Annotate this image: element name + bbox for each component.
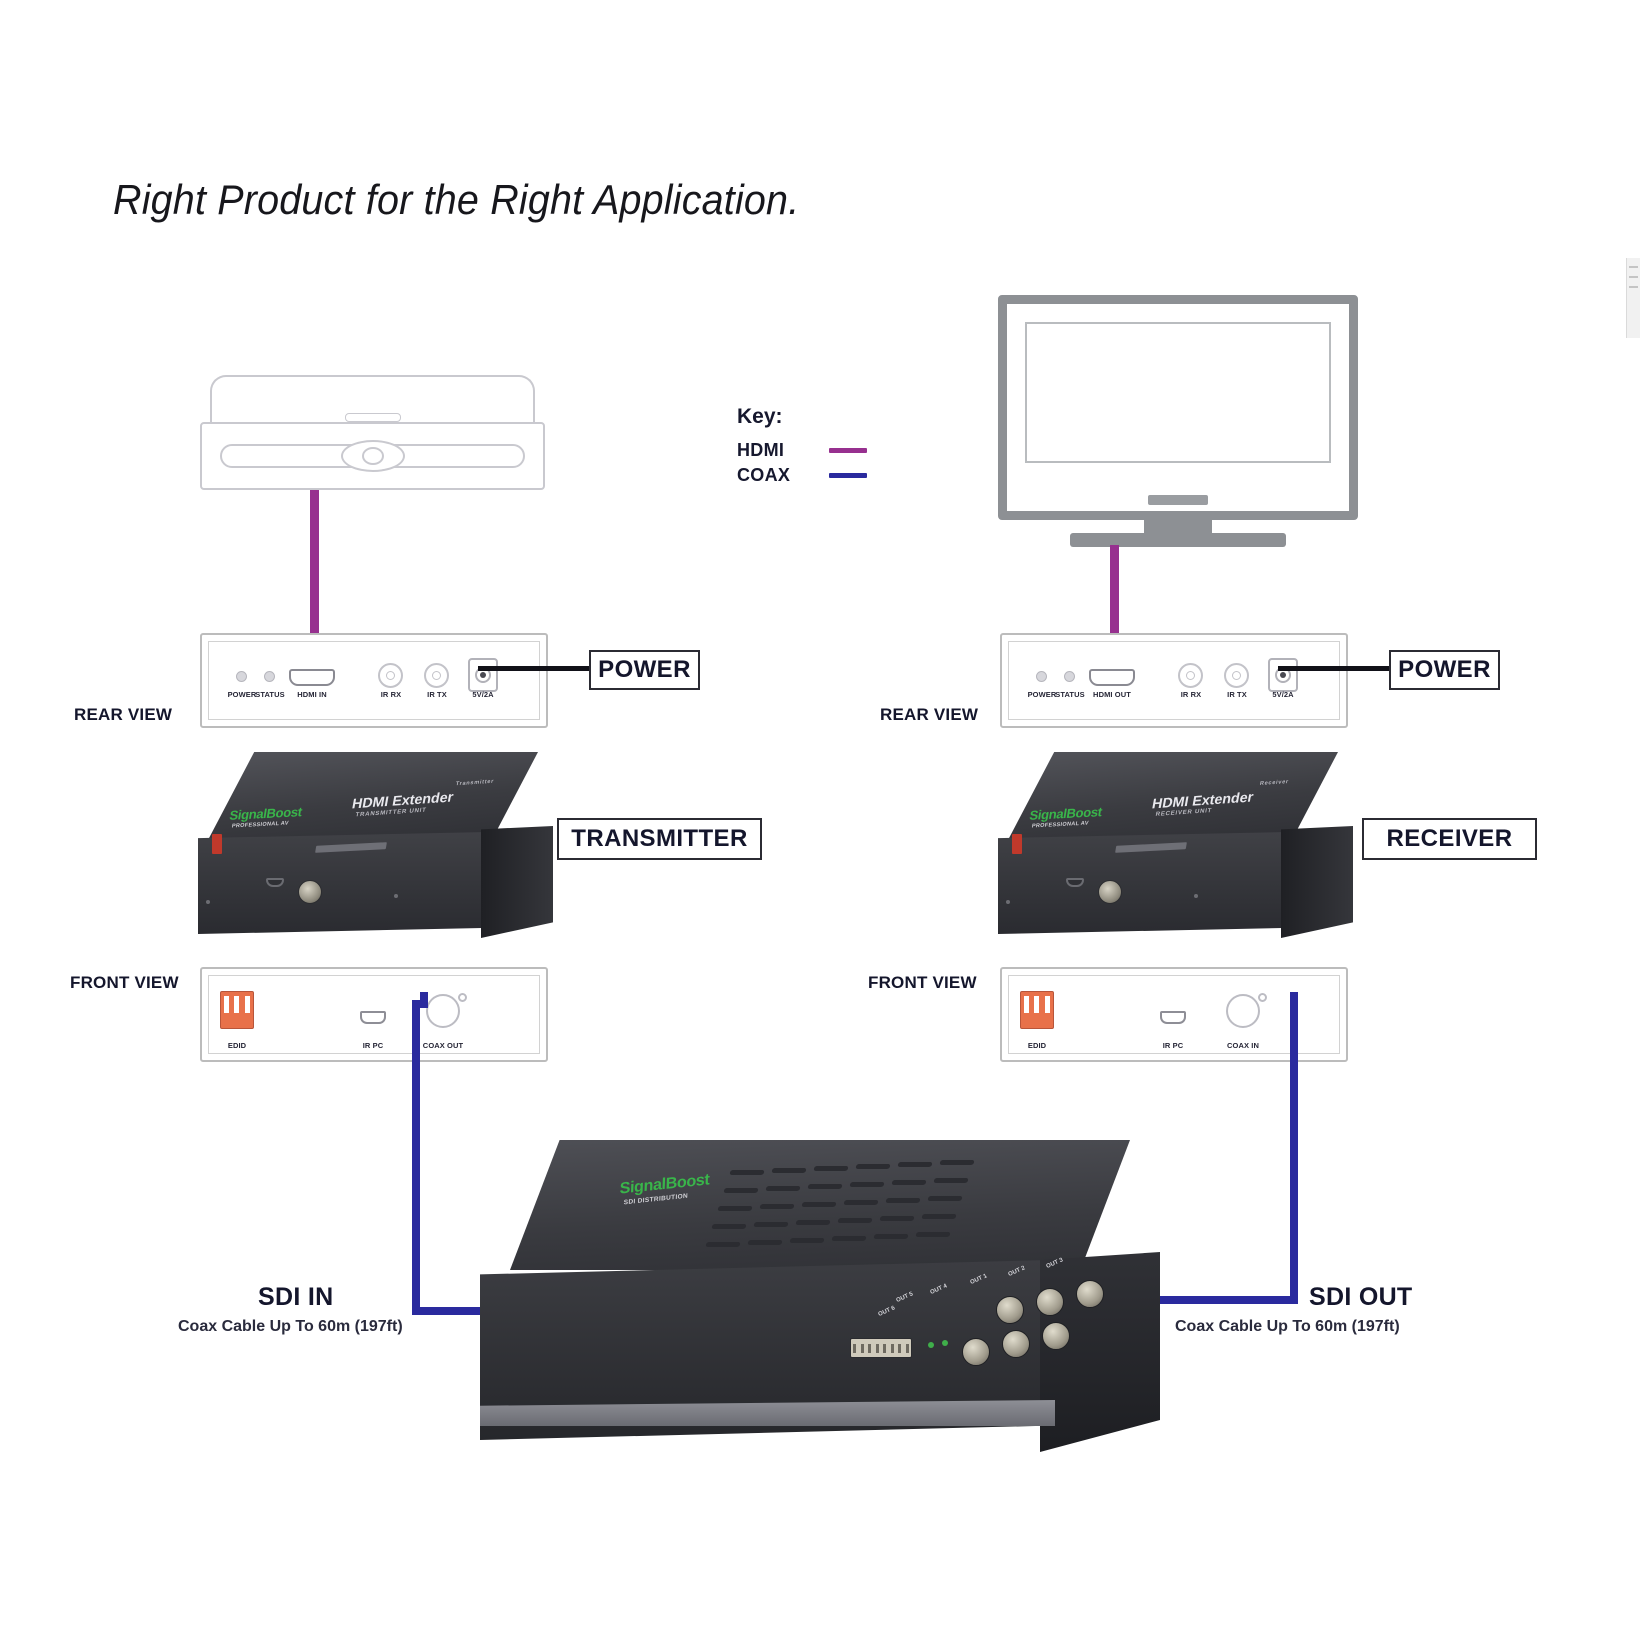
sdi-router-illustration: SignalBoost SDI DISTRIBUTION bbox=[480, 1140, 1160, 1480]
sdi-out-title: SDI OUT bbox=[1309, 1283, 1413, 1312]
receiver-device-label: RECEIVER bbox=[1362, 818, 1537, 860]
receiver-led-status bbox=[1064, 671, 1075, 682]
transmitter-port-ir-tx[interactable] bbox=[424, 663, 449, 688]
receiver-power-label: POWER bbox=[1389, 650, 1500, 690]
power-cable-transmitter bbox=[478, 666, 593, 671]
receiver-port-hdmi-out[interactable] bbox=[1089, 669, 1135, 686]
transmitter-device-illustration: SignalBoost PROFESSIONAL AV HDMI Extende… bbox=[198, 752, 558, 957]
diagram-canvas: Right Product for the Right Application.… bbox=[0, 0, 1640, 1640]
transmitter-label-edid: EDID bbox=[228, 1041, 246, 1050]
router-led-1 bbox=[928, 1342, 934, 1348]
key-swatch-hdmi bbox=[829, 448, 867, 453]
transmitter-port-dc-5v2a[interactable] bbox=[468, 658, 498, 692]
transmitter-label-power-led: POWER bbox=[228, 690, 257, 699]
transmitter-led-power bbox=[236, 671, 247, 682]
transmitter-led-status bbox=[264, 671, 275, 682]
receiver-front-view-caption: FRONT VIEW bbox=[868, 973, 977, 993]
coax-cable-rx-right-run bbox=[1290, 1000, 1298, 1304]
receiver-edid-dip-switch[interactable] bbox=[1020, 991, 1054, 1029]
receiver-label-status-led: STATUS bbox=[1055, 690, 1085, 699]
key-swatch-coax bbox=[829, 473, 867, 478]
receiver-label-dc: 5V/2A bbox=[1272, 690, 1293, 699]
transmitter-rear-view-caption: REAR VIEW bbox=[74, 705, 172, 725]
sdi-in-title: SDI IN bbox=[258, 1283, 333, 1312]
television-illustration bbox=[998, 295, 1358, 545]
receiver-led-power bbox=[1036, 671, 1047, 682]
receiver-label-hdmi-out: HDMI OUT bbox=[1093, 690, 1131, 699]
router-led-2 bbox=[942, 1340, 948, 1346]
receiver-front-bnc[interactable] bbox=[1098, 880, 1122, 904]
key-legend: Key: HDMI COAX bbox=[737, 405, 867, 488]
receiver-label-ir-pc: IR PC bbox=[1163, 1041, 1184, 1050]
transmitter-label-status-led: STATUS bbox=[255, 690, 285, 699]
receiver-label-power-led: POWER bbox=[1028, 690, 1057, 699]
transmitter-port-ir-pc[interactable] bbox=[360, 1011, 386, 1024]
transmitter-rear-panel: POWER STATUS HDMI IN IR RX IR TX 5V/2A bbox=[200, 633, 548, 728]
receiver-rear-panel: POWER STATUS HDMI OUT IR RX IR TX 5V/2A bbox=[1000, 633, 1348, 728]
transmitter-label-dc: 5V/2A bbox=[472, 690, 493, 699]
receiver-label-ir-tx: IR TX bbox=[1227, 690, 1247, 699]
receiver-port-ir-rx[interactable] bbox=[1178, 663, 1203, 688]
receiver-port-ir-pc[interactable] bbox=[1160, 1011, 1186, 1024]
transmitter-label-ir-pc: IR PC bbox=[363, 1041, 384, 1050]
media-player-illustration bbox=[200, 375, 545, 490]
receiver-port-ir-tx[interactable] bbox=[1224, 663, 1249, 688]
receiver-label-coax-in: COAX IN bbox=[1227, 1041, 1259, 1050]
transmitter-port-ir-rx[interactable] bbox=[378, 663, 403, 688]
key-item-coax: COAX bbox=[737, 463, 867, 488]
transmitter-port-coax-out[interactable] bbox=[426, 994, 460, 1028]
page-title: Right Product for the Right Application. bbox=[113, 176, 799, 224]
key-label-hdmi: HDMI bbox=[737, 440, 807, 461]
receiver-port-dc-5v2a[interactable] bbox=[1268, 658, 1298, 692]
receiver-label-ir-rx: IR RX bbox=[1181, 690, 1202, 699]
router-bnc-out-2[interactable] bbox=[1036, 1288, 1064, 1316]
router-bnc-out-4[interactable] bbox=[1042, 1322, 1070, 1350]
receiver-front-red-led bbox=[1012, 834, 1022, 854]
transmitter-edid-dip-switch[interactable] bbox=[220, 991, 254, 1029]
receiver-device-illustration: SignalBoost PROFESSIONAL AV HDMI Extende… bbox=[998, 752, 1358, 957]
transmitter-label-hdmi-in: HDMI IN bbox=[297, 690, 326, 699]
key-heading: Key: bbox=[737, 405, 867, 429]
transmitter-front-red-led bbox=[212, 834, 222, 854]
receiver-port-coax-in[interactable] bbox=[1226, 994, 1260, 1028]
transmitter-power-label: POWER bbox=[589, 650, 700, 690]
transmitter-label-ir-rx: IR RX bbox=[381, 690, 402, 699]
coax-cable-tx-left-run bbox=[412, 1000, 420, 1315]
receiver-rear-view-caption: REAR VIEW bbox=[880, 705, 978, 725]
transmitter-device-label: TRANSMITTER bbox=[557, 818, 762, 860]
router-bnc-out-3[interactable] bbox=[996, 1296, 1024, 1324]
router-bnc-out-5[interactable] bbox=[1002, 1330, 1030, 1358]
key-label-coax: COAX bbox=[737, 465, 807, 486]
transmitter-port-hdmi-in[interactable] bbox=[289, 669, 335, 686]
transmitter-label-coax-out: COAX OUT bbox=[423, 1041, 463, 1050]
power-cable-receiver bbox=[1278, 666, 1393, 671]
transmitter-front-view-caption: FRONT VIEW bbox=[70, 973, 179, 993]
sdi-in-subtitle: Coax Cable Up To 60m (197ft) bbox=[178, 1318, 403, 1336]
router-dsub-connector[interactable] bbox=[850, 1338, 912, 1358]
key-item-hdmi: HDMI bbox=[737, 438, 867, 463]
transmitter-label-ir-tx: IR TX bbox=[427, 690, 447, 699]
router-bnc-out-6[interactable] bbox=[962, 1338, 990, 1366]
sdi-out-subtitle: Coax Cable Up To 60m (197ft) bbox=[1175, 1318, 1400, 1336]
router-bnc-out-1[interactable] bbox=[1076, 1280, 1104, 1308]
transmitter-front-bnc[interactable] bbox=[298, 880, 322, 904]
scrollbar-sliver[interactable] bbox=[1626, 258, 1640, 338]
transmitter-front-panel: EDID IR PC COAX OUT bbox=[200, 967, 548, 1062]
receiver-label-edid: EDID bbox=[1028, 1041, 1046, 1050]
